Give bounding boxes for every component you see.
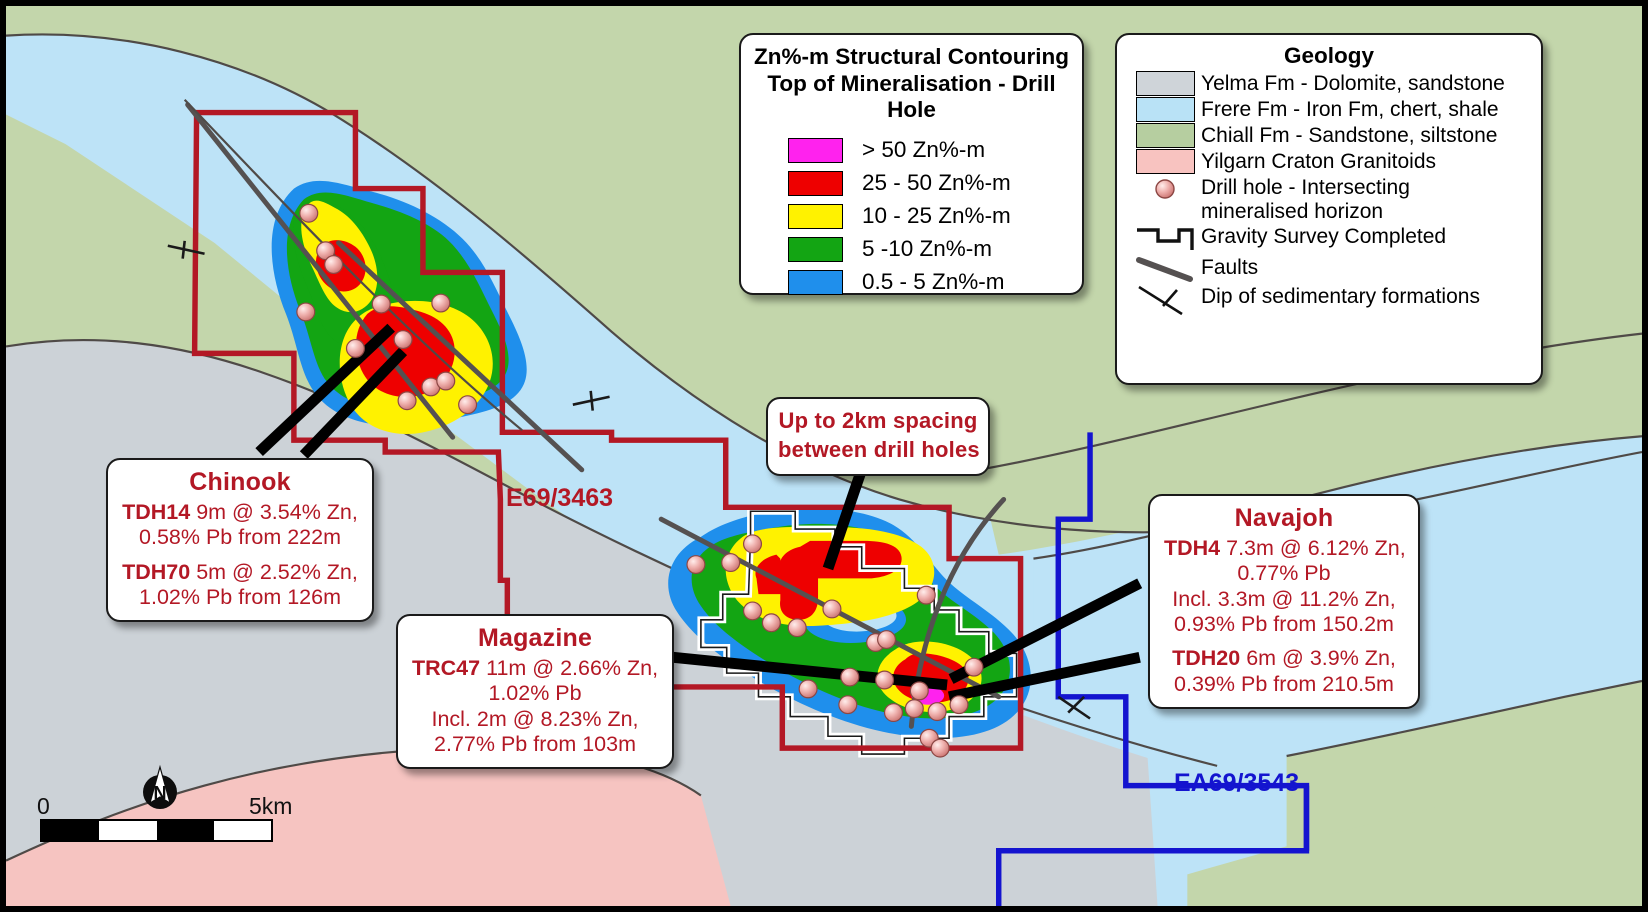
geology-unit-swatch xyxy=(1136,123,1195,148)
zn-legend-item: > 50 Zn%-m xyxy=(788,134,1070,167)
north-arrow-icon: N xyxy=(136,763,184,811)
zn-legend-swatch xyxy=(788,204,843,229)
callout-hole-id: TDH14 xyxy=(122,500,190,524)
zn-legend-label: 25 - 50 Zn%-m xyxy=(862,170,1011,196)
geology-legend: Geology Yelma Fm - Dolomite, sandstoneFr… xyxy=(1115,33,1543,385)
geology-symbol-row: Gravity Survey Completed xyxy=(1129,224,1529,254)
geology-legend-rows: Yelma Fm - Dolomite, sandstoneFrere Fm -… xyxy=(1129,71,1529,316)
callout-spacing-line1: Up to 2km spacing xyxy=(778,408,978,434)
callout-line: TDH14 9m @ 3.54% Zn, xyxy=(122,500,358,525)
callout-line: TRC47 11m @ 2.66% Zn, xyxy=(412,656,658,681)
callout-line: Incl. 3.3m @ 11.2% Zn, xyxy=(1164,587,1404,612)
zn-legend-item: 10 - 25 Zn%-m xyxy=(788,200,1070,233)
callout-line-gap xyxy=(122,551,358,560)
callout-intercept-text: 2.77% Pb from 103m xyxy=(434,732,636,756)
callout-navajoh-body: TDH4 7.3m @ 6.12% Zn,0.77% PbIncl. 3.3m … xyxy=(1164,536,1404,697)
callout-intercept-text: Incl. 3.3m @ 11.2% Zn, xyxy=(1172,587,1395,611)
callout-intercept-text: 5m @ 2.52% Zn, xyxy=(190,560,358,584)
geology-unit-swatch-wrap xyxy=(1129,71,1201,96)
geology-unit-label: Yilgarn Craton Granitoids xyxy=(1201,149,1436,173)
geology-legend-title: Geology xyxy=(1129,43,1529,69)
geology-unit-swatch xyxy=(1136,149,1195,174)
callout-intercept-text: 1.02% Pb xyxy=(488,681,581,705)
callout-intercept-text: Incl. 2m @ 8.23% Zn, xyxy=(431,707,638,731)
callout-line: 0.77% Pb xyxy=(1164,561,1404,586)
callout-intercept-text: 0.58% Pb from 222m xyxy=(139,525,341,549)
callout-line: TDH4 7.3m @ 6.12% Zn, xyxy=(1164,536,1404,561)
zn-legend-swatch xyxy=(788,171,843,196)
zn-contour-legend: Zn%-m Structural Contouring Top of Miner… xyxy=(739,33,1084,295)
tenement-label-ea69-3543: EA69/3543 xyxy=(1174,769,1299,798)
callout-hole-id: TDH20 xyxy=(1172,646,1240,670)
callout-intercept-text: 0.39% Pb from 210.5m xyxy=(1174,672,1394,696)
callout-intercept-text: 11m @ 2.66% Zn, xyxy=(480,656,658,680)
callout-magazine-body: TRC47 11m @ 2.66% Zn,1.02% PbIncl. 2m @ … xyxy=(412,656,658,757)
zn-legend-label: > 50 Zn%-m xyxy=(862,137,985,163)
callout-drill-spacing: Up to 2km spacing between drill holes xyxy=(766,397,990,476)
scale-bar xyxy=(40,819,273,842)
geology-symbol-label-line1: Gravity Survey Completed xyxy=(1201,225,1446,249)
geology-unit-swatch-wrap xyxy=(1129,97,1201,122)
zn-legend-item: 25 - 50 Zn%-m xyxy=(788,167,1070,200)
gravity-survey-icon xyxy=(1129,224,1201,254)
fault-line-icon xyxy=(1129,255,1201,283)
dip-symbol-icon xyxy=(1129,284,1201,316)
callout-hole-id: TDH70 xyxy=(122,560,190,584)
callout-line: 1.02% Pb xyxy=(412,681,658,706)
geology-unit-label: Yelma Fm - Dolomite, sandstone xyxy=(1201,71,1505,95)
callout-line: 0.39% Pb from 210.5m xyxy=(1164,672,1404,697)
zn-legend-label: 10 - 25 Zn%-m xyxy=(862,203,1011,229)
callout-hole-id: TRC47 xyxy=(412,656,480,680)
geology-symbol-label: Gravity Survey Completed xyxy=(1201,224,1446,249)
callout-hole-id: TDH4 xyxy=(1164,536,1220,560)
callout-chinook-body: TDH14 9m @ 3.54% Zn,0.58% Pb from 222mTD… xyxy=(122,500,358,610)
callout-line-gap xyxy=(1164,637,1404,646)
geology-symbol-row: Dip of sedimentary formations xyxy=(1129,284,1529,316)
callout-intercept-text: 0.77% Pb xyxy=(1237,561,1330,585)
zn-legend-title: Zn%-m Structural Contouring Top of Miner… xyxy=(753,44,1070,124)
geology-symbol-label: Dip of sedimentary formations xyxy=(1201,284,1480,309)
callout-navajoh: Navajoh TDH4 7.3m @ 6.12% Zn,0.77% PbInc… xyxy=(1148,494,1420,709)
callout-intercept-text: 9m @ 3.54% Zn, xyxy=(190,500,358,524)
svg-text:N: N xyxy=(154,783,167,803)
geology-unit-swatch xyxy=(1136,71,1195,96)
tenement-label-e69-3463: E69/3463 xyxy=(506,484,613,513)
callout-chinook-title: Chinook xyxy=(122,468,358,497)
zn-legend-item: 5 -10 Zn%-m xyxy=(788,233,1070,266)
callout-intercept-text: 0.93% Pb from 150.2m xyxy=(1174,612,1394,636)
zn-legend-swatch xyxy=(788,237,843,262)
drill-hole-icon xyxy=(1129,175,1201,201)
geology-unit-label: Chiall Fm - Sandstone, siltstone xyxy=(1201,123,1497,147)
callout-navajoh-title: Navajoh xyxy=(1164,504,1404,533)
callout-chinook: Chinook TDH14 9m @ 3.54% Zn,0.58% Pb fro… xyxy=(106,458,374,622)
geology-symbol-label-line1: Dip of sedimentary formations xyxy=(1201,285,1480,309)
geology-unit-label: Frere Fm - Iron Fm, chert, shale xyxy=(1201,97,1499,121)
zn-legend-title-line2: Top of Mineralisation - Drill Hole xyxy=(753,71,1070,124)
callout-intercept-text: 6m @ 3.9% Zn, xyxy=(1240,646,1396,670)
zn-legend-swatch xyxy=(788,270,843,295)
callout-line: TDH70 5m @ 2.52% Zn, xyxy=(122,560,358,585)
zn-legend-swatch xyxy=(788,138,843,163)
map-canvas: Zn%-m Structural Contouring Top of Miner… xyxy=(0,0,1648,912)
callout-intercept-text: 1.02% Pb from 126m xyxy=(139,585,341,609)
geology-unit-swatch-wrap xyxy=(1129,123,1201,148)
scale-end-label: 5km xyxy=(249,793,292,820)
zn-legend-label: 5 -10 Zn%-m xyxy=(862,236,992,262)
scale-start-label: 0 xyxy=(37,793,50,820)
geology-unit-swatch-wrap xyxy=(1129,149,1201,174)
geology-symbol-label: Faults xyxy=(1201,255,1258,280)
callout-spacing-line2: between drill holes xyxy=(778,437,978,463)
geology-unit-row: Chiall Fm - Sandstone, siltstone xyxy=(1129,123,1529,148)
geology-symbol-row: Faults xyxy=(1129,255,1529,283)
geology-symbol-label-line1: Faults xyxy=(1201,256,1258,280)
geology-unit-row: Yelma Fm - Dolomite, sandstone xyxy=(1129,71,1529,96)
geology-unit-swatch xyxy=(1136,97,1195,122)
geology-symbol-label-line1: Drill hole - Intersecting xyxy=(1201,176,1410,200)
zn-legend-item: 0.5 - 5 Zn%-m xyxy=(788,266,1070,299)
geology-unit-row: Yilgarn Craton Granitoids xyxy=(1129,149,1529,174)
zn-legend-title-line1: Zn%-m Structural Contouring xyxy=(753,44,1070,71)
geology-symbol-label-line2: mineralised horizon xyxy=(1201,200,1410,224)
zn-legend-label: 0.5 - 5 Zn%-m xyxy=(862,269,1005,295)
callout-line: 2.77% Pb from 103m xyxy=(412,732,658,757)
callout-line: Incl. 2m @ 8.23% Zn, xyxy=(412,707,658,732)
callout-magazine: Magazine TRC47 11m @ 2.66% Zn,1.02% PbIn… xyxy=(396,614,674,769)
zn-legend-rows: > 50 Zn%-m25 - 50 Zn%-m10 - 25 Zn%-m5 -1… xyxy=(753,134,1070,299)
callout-line: TDH20 6m @ 3.9% Zn, xyxy=(1164,646,1404,671)
geology-symbol-row: Drill hole - Intersectingmineralised hor… xyxy=(1129,175,1529,223)
callout-magazine-title: Magazine xyxy=(412,624,658,653)
callout-line: 0.93% Pb from 150.2m xyxy=(1164,612,1404,637)
callout-line: 1.02% Pb from 126m xyxy=(122,585,358,610)
geology-symbol-label: Drill hole - Intersectingmineralised hor… xyxy=(1201,175,1410,223)
geology-unit-row: Frere Fm - Iron Fm, chert, shale xyxy=(1129,97,1529,122)
callout-intercept-text: 7.3m @ 6.12% Zn, xyxy=(1220,536,1406,560)
callout-line: 0.58% Pb from 222m xyxy=(122,525,358,550)
